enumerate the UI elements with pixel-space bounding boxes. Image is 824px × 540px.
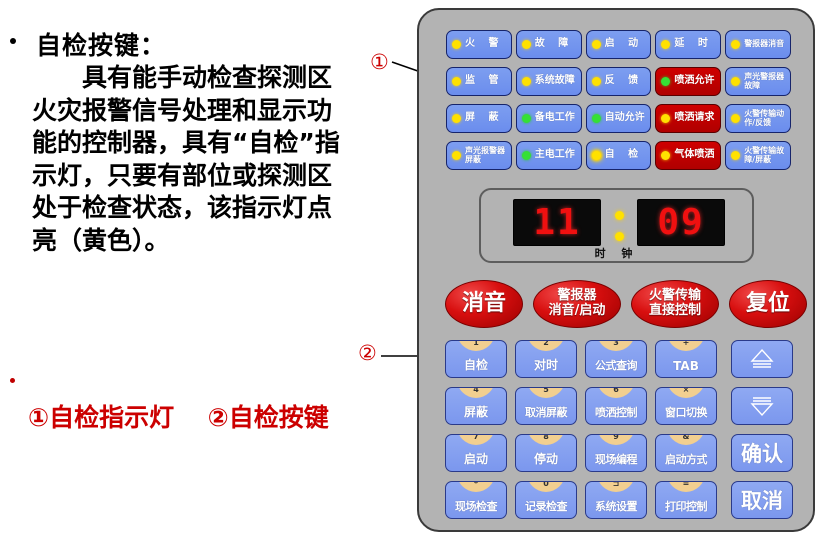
oval-action-button[interactable]: 消音 <box>445 280 523 328</box>
led-yellow-icon <box>661 40 670 49</box>
keypad-key-label: 屏蔽 <box>446 403 506 420</box>
clock-display: 11 09 时 钟 <box>479 188 754 263</box>
keypad-key-label: 公式查询 <box>586 357 646 373</box>
keypad-key[interactable]: *现场检查 <box>445 481 507 519</box>
keypad-key[interactable]: 9现场编程 <box>585 434 647 472</box>
body-paragraph: 具有能手动检查探测区火灾报警信号处理和显示功能的控制器，具有“自检”指示灯，只要… <box>32 62 350 257</box>
clock-colon-dot-bottom <box>615 232 624 241</box>
indicator-lamp: 主电工作 <box>516 141 582 170</box>
keypad-key-label: 对时 <box>516 356 576 373</box>
led-green-icon <box>661 77 670 86</box>
keypad-key[interactable]: 2对时 <box>515 340 577 378</box>
oval-button-line1: 复位 <box>746 291 790 316</box>
keypad-key-number: * <box>457 481 495 492</box>
keypad-key[interactable]: 5取消屏蔽 <box>515 387 577 425</box>
indicator-lamp: 启 动 <box>586 30 652 59</box>
indicator-lamp: 气体喷洒 <box>655 141 721 170</box>
indicator-label: 气体喷洒 <box>674 150 714 161</box>
indicator-label: 警报器消音 <box>744 40 784 48</box>
led-yellow-icon <box>452 77 461 86</box>
keypad-key[interactable]: 8停动 <box>515 434 577 472</box>
clock-hours-display: 11 <box>513 199 601 246</box>
led-yellow-icon <box>661 151 670 160</box>
oval-button-line2: 直接控制 <box>649 304 701 319</box>
bullet-title: 自检按键： <box>36 26 166 62</box>
indicator-label: 延 时 <box>674 39 712 50</box>
keypad-key[interactable]: &启动方式 <box>655 434 717 472</box>
indicator-lamp: 自 检 <box>586 141 652 170</box>
keypad-key[interactable]: 1自检 <box>445 340 507 378</box>
keypad-key-label: 窗口切换 <box>656 404 716 420</box>
keypad-key-label: 现场编程 <box>586 451 646 467</box>
oval-button-label: 消音 <box>462 291 506 316</box>
confirm-button[interactable]: 确认 <box>731 434 793 472</box>
indicator-lamp: 故 障 <box>516 30 582 59</box>
oval-action-button[interactable]: 警报器消音/启动 <box>533 280 621 328</box>
keypad-key-label: 启动方式 <box>656 451 716 467</box>
side-key-label: 确认 <box>741 438 783 468</box>
up-arrow-icon <box>747 348 777 370</box>
keypad-key-label: 停动 <box>516 450 576 467</box>
led-green-icon <box>592 114 601 123</box>
keypad-key-number: × <box>667 387 705 398</box>
keypad-key-label: TAB <box>656 359 716 373</box>
led-green-icon <box>522 151 531 160</box>
keypad-key-label: 取消屏蔽 <box>516 404 576 420</box>
led-yellow-icon <box>522 40 531 49</box>
indicator-lamp: 警报器消音 <box>725 30 791 59</box>
keypad-key-number: 8 <box>527 434 565 445</box>
indicator-lamp: 火警传输动作/反馈 <box>725 104 791 133</box>
indicator-lamp: 反 馈 <box>586 67 652 96</box>
indicator-lamp: 喷洒请求 <box>655 104 721 133</box>
keypad-key-number: 3 <box>597 340 635 351</box>
indicator-label: 主电工作 <box>535 150 575 161</box>
indicator-lamp: 系统故障 <box>516 67 582 96</box>
indicator-label: 声光警报器故障 <box>744 73 790 90</box>
keypad-key-number: 0 <box>527 481 565 492</box>
indicator-label: 声光报警器屏蔽 <box>465 147 511 164</box>
indicator-lamp: 备电工作 <box>516 104 582 133</box>
clock-minutes-display: 09 <box>637 199 725 246</box>
led-yellow-icon <box>452 114 461 123</box>
keypad-key-number: 2 <box>527 340 565 351</box>
indicator-label: 启 动 <box>605 39 643 50</box>
keypad-key-label: 系统设置 <box>586 498 646 514</box>
indicator-label: 备电工作 <box>535 113 575 124</box>
indicator-label: 故 障 <box>535 39 573 50</box>
keypad-key-label: 记录检查 <box>516 498 576 514</box>
keypad-key-label: 喷洒控制 <box>586 404 646 420</box>
keypad-key-number: 9 <box>597 434 635 445</box>
indicator-lamp: 声光警报器故障 <box>725 67 791 96</box>
indicator-label: 自 检 <box>605 150 643 161</box>
indicator-label: 喷洒允许 <box>674 76 714 87</box>
indicator-label: 系统故障 <box>535 76 575 87</box>
indicator-label: 火警传输故障/屏蔽 <box>744 147 790 164</box>
oval-action-button[interactable]: 火警传输直接控制 <box>631 280 719 328</box>
side-key-label: 取消 <box>741 485 783 515</box>
clock-hours-value: 11 <box>533 205 580 241</box>
keypad-key-label: 启动 <box>446 450 506 467</box>
indicator-label: 自动允许 <box>605 113 645 124</box>
oval-button-line1: 火警传输 <box>649 289 701 304</box>
led-glow-icon <box>592 151 601 160</box>
led-yellow-icon <box>452 151 461 160</box>
oval-button-label: 警报器消音/启动 <box>549 289 606 319</box>
indicator-label: 监 管 <box>465 76 503 87</box>
oval-button-line1: 警报器 <box>549 289 606 304</box>
keypad-key-number: 1 <box>457 340 495 351</box>
indicator-label: 喷洒请求 <box>674 113 714 124</box>
indicator-lamp-grid: 火 警故 障启 动延 时警报器消音监 管系统故障反 馈喷洒允许声光警报器故障屏 … <box>446 30 791 170</box>
indicator-label: 火警传输动作/反馈 <box>744 110 790 127</box>
bullet-heading-row: 自检按键： <box>10 26 360 62</box>
keypad-key-number: & <box>667 434 705 445</box>
down-arrow-icon <box>747 395 777 417</box>
led-green-icon <box>522 114 531 123</box>
bullet-dot-icon-2 <box>10 378 15 383</box>
keypad-key-number: 7 <box>457 434 495 445</box>
scroll-up-button[interactable] <box>731 340 793 378</box>
keypad-key[interactable]: =打印控制 <box>655 481 717 519</box>
indicator-lamp: 监 管 <box>446 67 512 96</box>
scroll-down-button[interactable] <box>731 387 793 425</box>
legend-caption: ①自检指示灯 ②自检按键 <box>28 398 368 434</box>
led-yellow-icon <box>661 114 670 123</box>
callout-marker-2: ② <box>358 343 377 364</box>
oval-action-button[interactable]: 复位 <box>729 280 807 328</box>
oval-button-line1: 消音 <box>462 291 506 316</box>
fire-alarm-control-panel: 火 警故 障启 动延 时警报器消音监 管系统故障反 馈喷洒允许声光警报器故障屏 … <box>417 8 815 532</box>
keypad-key-number: + <box>667 340 705 351</box>
indicator-label: 火 警 <box>465 39 503 50</box>
keypad-key-label: 自检 <box>446 356 506 373</box>
oval-button-row: 消音警报器消音/启动火警传输直接控制复位 <box>445 280 793 330</box>
oval-button-label: 复位 <box>746 291 790 316</box>
indicator-label: 屏 蔽 <box>465 113 503 124</box>
led-yellow-icon <box>592 40 601 49</box>
keypad-key-label: 现场检查 <box>446 498 506 514</box>
led-yellow-icon <box>731 77 740 86</box>
led-yellow-icon <box>731 40 740 49</box>
keypad-key-number: 4 <box>457 387 495 398</box>
keypad-key[interactable]: +TAB <box>655 340 717 378</box>
indicator-lamp: 喷洒允许 <box>655 67 721 96</box>
keypad-key[interactable]: ×窗口切换 <box>655 387 717 425</box>
indicator-lamp: 屏 蔽 <box>446 104 512 133</box>
indicator-lamp: 火警传输故障/屏蔽 <box>725 141 791 170</box>
keypad-key-number: ⊐ <box>597 481 635 492</box>
led-yellow-icon <box>522 77 531 86</box>
clock-minutes-value: 09 <box>657 205 704 241</box>
legend-item-1: ①自检指示灯 <box>28 403 174 432</box>
led-yellow-icon <box>731 151 740 160</box>
keypad-key[interactable]: 3公式查询 <box>585 340 647 378</box>
indicator-label: 反 馈 <box>605 76 643 87</box>
keypad-key-number: = <box>667 481 705 492</box>
keypad-key[interactable]: 6喷洒控制 <box>585 387 647 425</box>
indicator-lamp: 延 时 <box>655 30 721 59</box>
indicator-lamp: 火 警 <box>446 30 512 59</box>
keypad-key[interactable]: 4屏蔽 <box>445 387 507 425</box>
indicator-lamp: 自动允许 <box>586 104 652 133</box>
keypad-key[interactable]: ⊐系统设置 <box>585 481 647 519</box>
oval-button-label: 火警传输直接控制 <box>649 289 701 319</box>
clock-colon-dot-top <box>615 211 624 220</box>
keypad-key[interactable]: 0记录检查 <box>515 481 577 519</box>
keypad-key-number: 6 <box>597 387 635 398</box>
keypad: 1自检2对时3公式查询+TAB4屏蔽5取消屏蔽6喷洒控制×窗口切换7启动8停动9… <box>445 340 793 522</box>
led-yellow-icon <box>731 114 740 123</box>
indicator-lamp: 声光报警器屏蔽 <box>446 141 512 170</box>
slide-root: 自检按键： 具有能手动检查探测区火灾报警信号处理和显示功能的控制器，具有“自检”… <box>0 0 824 540</box>
left-text-column: 自检按键： 具有能手动检查探测区火灾报警信号处理和显示功能的控制器，具有“自检”… <box>0 0 400 540</box>
bullet-dot-icon <box>10 38 16 44</box>
led-yellow-icon <box>592 77 601 86</box>
keypad-key-number: 5 <box>527 387 565 398</box>
clock-caption: 时 钟 <box>481 245 752 261</box>
keypad-key[interactable]: 7启动 <box>445 434 507 472</box>
oval-button-line2: 消音/启动 <box>549 304 606 319</box>
legend-item-2: ②自检按键 <box>208 403 329 432</box>
callout-marker-1: ① <box>370 52 389 73</box>
led-yellow-icon <box>452 40 461 49</box>
cancel-button[interactable]: 取消 <box>731 481 793 519</box>
keypad-key-label: 打印控制 <box>656 498 716 514</box>
